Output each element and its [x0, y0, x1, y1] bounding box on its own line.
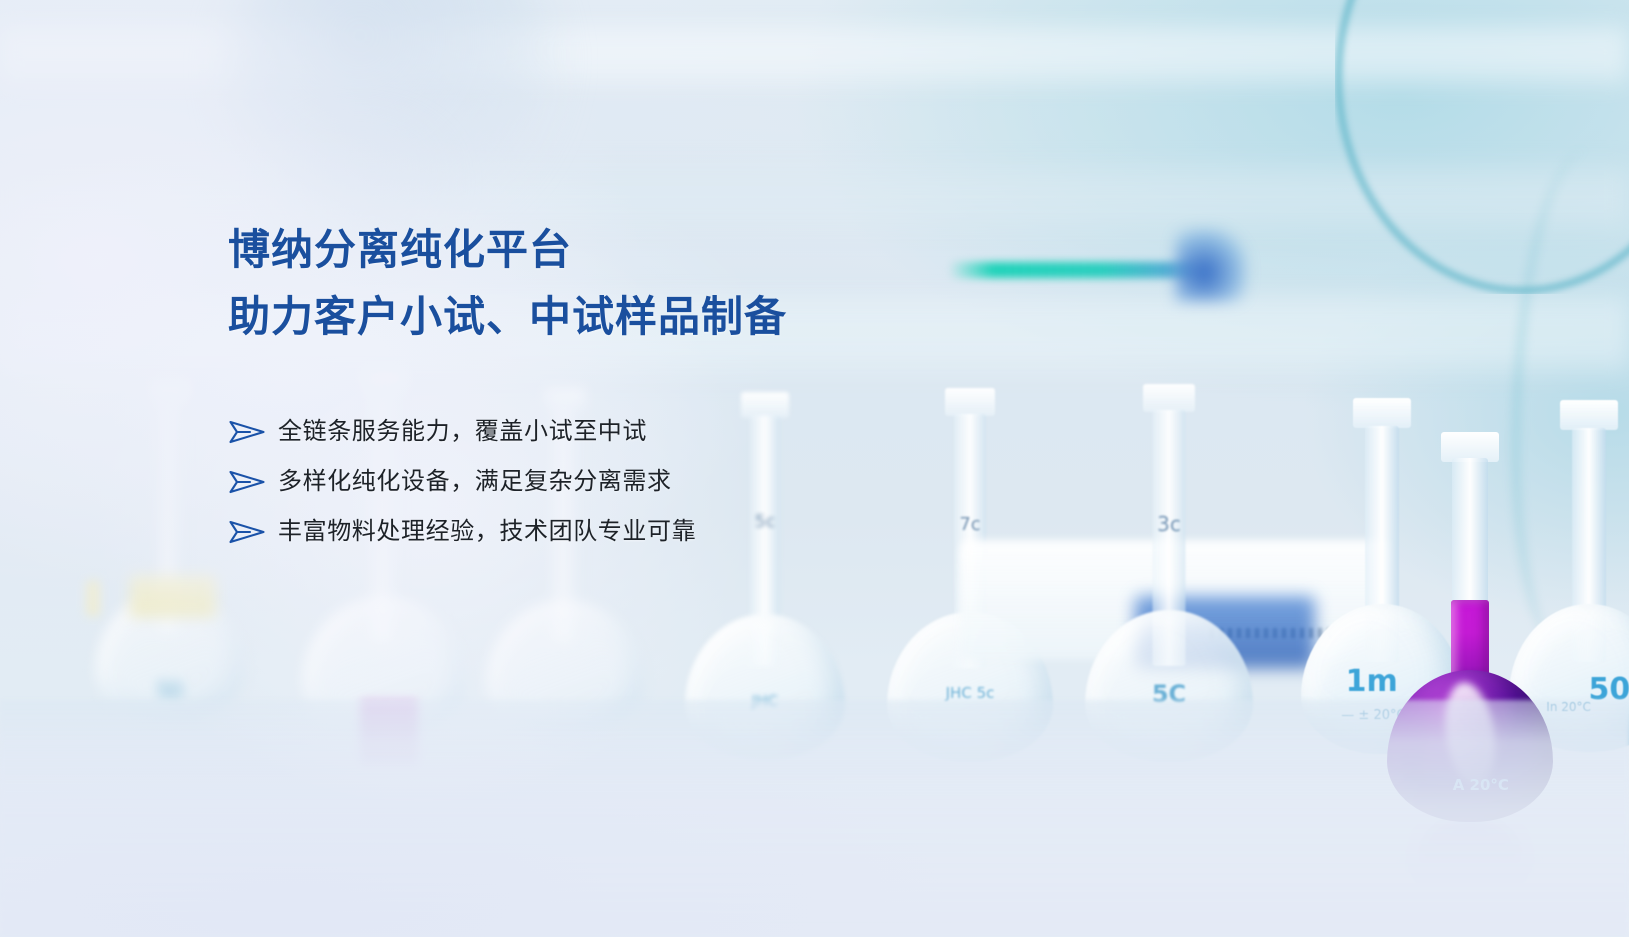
page-title: 博纳分离纯化平台 助力客户小试、中试样品制备 — [228, 216, 787, 350]
headline-line-1: 博纳分离纯化平台 — [228, 216, 787, 283]
list-item-label: 全链条服务能力，覆盖小试至中试 — [278, 417, 647, 447]
list-item-label: 丰富物料处理经验，技术团队专业可靠 — [278, 517, 696, 547]
list-item: 全链条服务能力，覆盖小试至中试 — [226, 408, 696, 456]
feature-list: 全链条服务能力，覆盖小试至中试 多样化纯化设备，满足复杂分离需求 丰富物料处理经… — [226, 408, 696, 558]
arrow-right-outline-icon — [226, 467, 268, 497]
headline-line-2: 助力客户小试、中试样品制备 — [228, 283, 787, 350]
hero-banner: 50 5c JHC 7c JHC 5c 3c 5C — [0, 0, 1629, 937]
arrow-right-outline-icon — [226, 517, 268, 547]
list-item-label: 多样化纯化设备，满足复杂分离需求 — [278, 467, 672, 497]
list-item: 丰富物料处理经验，技术团队专业可靠 — [226, 508, 696, 556]
arrow-right-outline-icon — [226, 417, 268, 447]
banner-content: 博纳分离纯化平台 助力客户小试、中试样品制备 全链条服务能力，覆盖小试至中试 多… — [0, 0, 1629, 937]
list-item: 多样化纯化设备，满足复杂分离需求 — [226, 458, 696, 506]
